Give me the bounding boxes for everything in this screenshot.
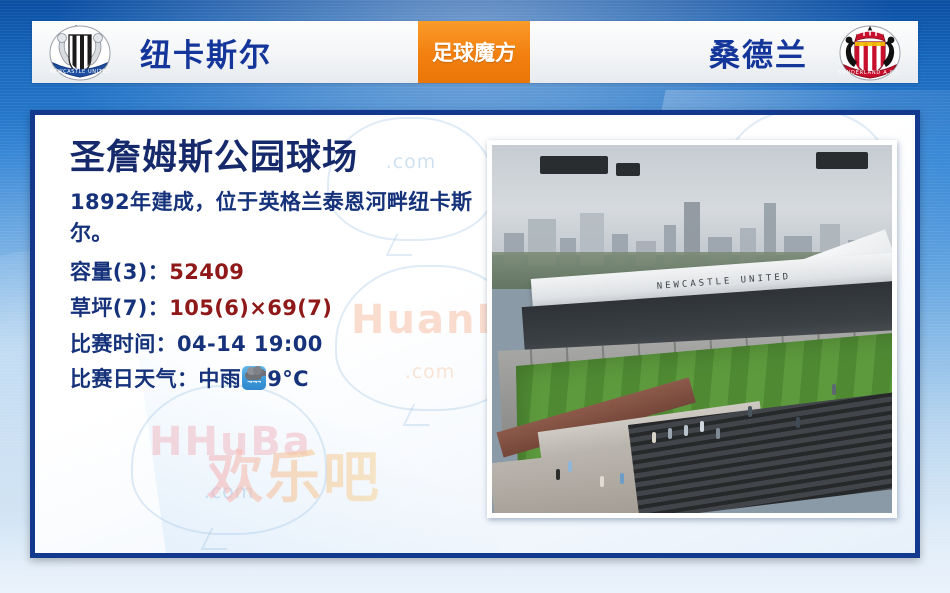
stadium-photo: NEWCASTLE UNITED: [492, 145, 892, 513]
home-crest-container[interactable]: NEWCASTLE UNITED: [32, 23, 128, 81]
watermark-hhuba-left: HHuBa .com: [131, 385, 327, 535]
match-time-label: 比赛时间：: [70, 332, 177, 356]
home-team-name: 纽卡斯尔: [128, 30, 418, 75]
pitch-size-label: 草坪(7)：: [70, 296, 169, 320]
stadium-info-card: NEWCASTLE UNITED 纽卡斯尔 足球魔方 桑德兰: [0, 0, 950, 593]
capacity-label: 容量(3)：: [70, 260, 169, 284]
stadium-description: 1892年建成，位于英格兰泰恩河畔纽卡斯尔。: [70, 187, 490, 249]
watermark-huanleba-chinese: 欢乐吧: [207, 433, 381, 514]
match-weather-row: 比赛日天气：中雨9°C: [70, 362, 490, 398]
match-time-row: 比赛时间：04-14 19:00: [70, 327, 490, 363]
svg-text:SUNDERLAND A.F.C.: SUNDERLAND A.F.C.: [838, 70, 902, 76]
match-time-value: 04-14 19:00: [177, 332, 323, 356]
match-header-bar: NEWCASTLE UNITED 纽卡斯尔 足球魔方 桑德兰: [32, 21, 918, 83]
floodlight-gantry-left: [540, 156, 608, 174]
weather-condition: 中雨: [198, 367, 241, 391]
newcastle-united-crest: NEWCASTLE UNITED: [47, 23, 113, 81]
stadium-title: 圣詹姆斯公园球场: [70, 139, 490, 178]
brand-logo-badge[interactable]: 足球魔方: [418, 21, 530, 83]
floodlight-gantry-right: [816, 152, 868, 169]
away-crest-container[interactable]: SUNDERLAND A.F.C.: [822, 23, 918, 81]
weather-temperature: 9°C: [267, 367, 309, 391]
stadium-info-column: 圣詹姆斯公园球场 1892年建成，位于英格兰泰恩河畔纽卡斯尔。 容量(3)：52…: [70, 139, 490, 398]
floodlight-gantry-mid: [616, 163, 640, 176]
svg-text:NEWCASTLE UNITED: NEWCASTLE UNITED: [49, 69, 110, 75]
stadium-detail-panel: .com .com HHuBa .com HuanLeBa .com 欢乐吧: [30, 110, 920, 558]
pitch-size-value: 105(6)×69(7): [169, 296, 332, 320]
rain-cloud-icon: [242, 366, 266, 390]
away-team-name: 桑德兰: [530, 30, 822, 75]
capacity-value: 52409: [169, 260, 244, 284]
pitch-size-row: 草坪(7)：105(6)×69(7): [70, 291, 490, 327]
sunderland-afc-crest: SUNDERLAND A.F.C.: [837, 23, 903, 81]
capacity-row: 容量(3)：52409: [70, 255, 490, 291]
stadium-photo-frame[interactable]: NEWCASTLE UNITED: [487, 140, 897, 518]
weather-label: 比赛日天气：: [70, 367, 198, 391]
